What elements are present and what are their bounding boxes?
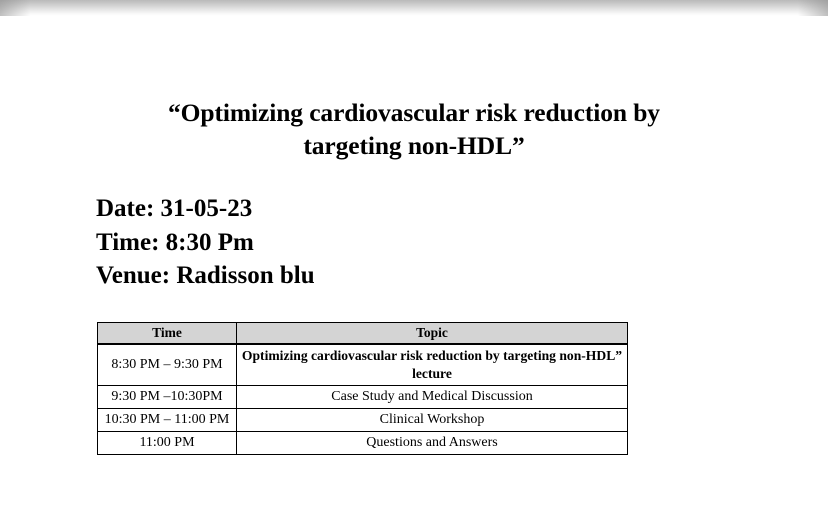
cell-time: 8:30 PM – 9:30 PM [98, 344, 237, 386]
cell-topic: Optimizing cardiovascular risk reduction… [237, 344, 628, 386]
table-row: 10:30 PM – 11:00 PM Clinical Workshop [98, 409, 628, 432]
cell-time: 10:30 PM – 11:00 PM [98, 409, 237, 432]
page-title-line-1: “Optimizing cardiovascular risk reductio… [114, 96, 714, 129]
document-page: “Optimizing cardiovascular risk reductio… [0, 0, 828, 527]
cell-time: 11:00 PM [98, 432, 237, 455]
page-title: “Optimizing cardiovascular risk reductio… [114, 96, 714, 162]
event-time: Time: 8:30 Pm [96, 226, 315, 260]
table-row: 9:30 PM –10:30PM Case Study and Medical … [98, 386, 628, 409]
cell-topic: Questions and Answers [237, 432, 628, 455]
column-header-topic: Topic [237, 323, 628, 345]
table-row: 8:30 PM – 9:30 PM Optimizing cardiovascu… [98, 344, 628, 386]
cell-time: 9:30 PM –10:30PM [98, 386, 237, 409]
table-row: 11:00 PM Questions and Answers [98, 432, 628, 455]
event-venue: Venue: Radisson blu [96, 259, 315, 293]
page-title-line-2: targeting non-HDL” [114, 129, 714, 162]
event-details-block: Date: 31-05-23 Time: 8:30 Pm Venue: Radi… [96, 192, 315, 293]
cell-topic: Clinical Workshop [237, 409, 628, 432]
cell-topic: Case Study and Medical Discussion [237, 386, 628, 409]
schedule-table: Time Topic 8:30 PM – 9:30 PM Optimizing … [97, 322, 628, 455]
event-date: Date: 31-05-23 [96, 192, 315, 226]
column-header-time: Time [98, 323, 237, 345]
table-header-row: Time Topic [98, 323, 628, 345]
